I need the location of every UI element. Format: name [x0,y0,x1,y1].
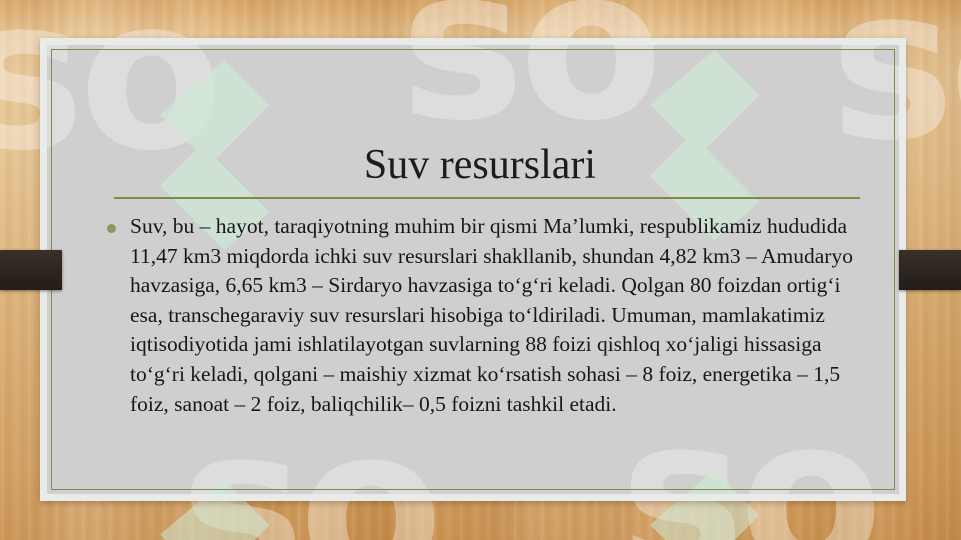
watermark-letters: so [400,45,657,150]
s-logo-mark-icon [640,470,760,494]
title-divider [114,197,860,199]
bullet-dot-icon [107,224,116,233]
slide-title: Suv resurslari [107,141,853,189]
presentation-slide: so so so so so [0,0,961,540]
bullet-item: Suv, bu – hayot, taraqiyotning muhim bir… [107,212,867,419]
slide-body: Suv, bu – hayot, taraqiyotning muhim bir… [107,212,867,419]
slide-content-panel: so so so so so [40,38,906,501]
bullet-text: Suv, bu – hayot, taraqiyotning muhim bir… [130,212,867,419]
s-logo-mark-icon [150,480,270,494]
decorative-bar-left [0,250,62,290]
decorative-bar-right [899,250,961,290]
panel-surface: so so so so so [47,45,899,494]
